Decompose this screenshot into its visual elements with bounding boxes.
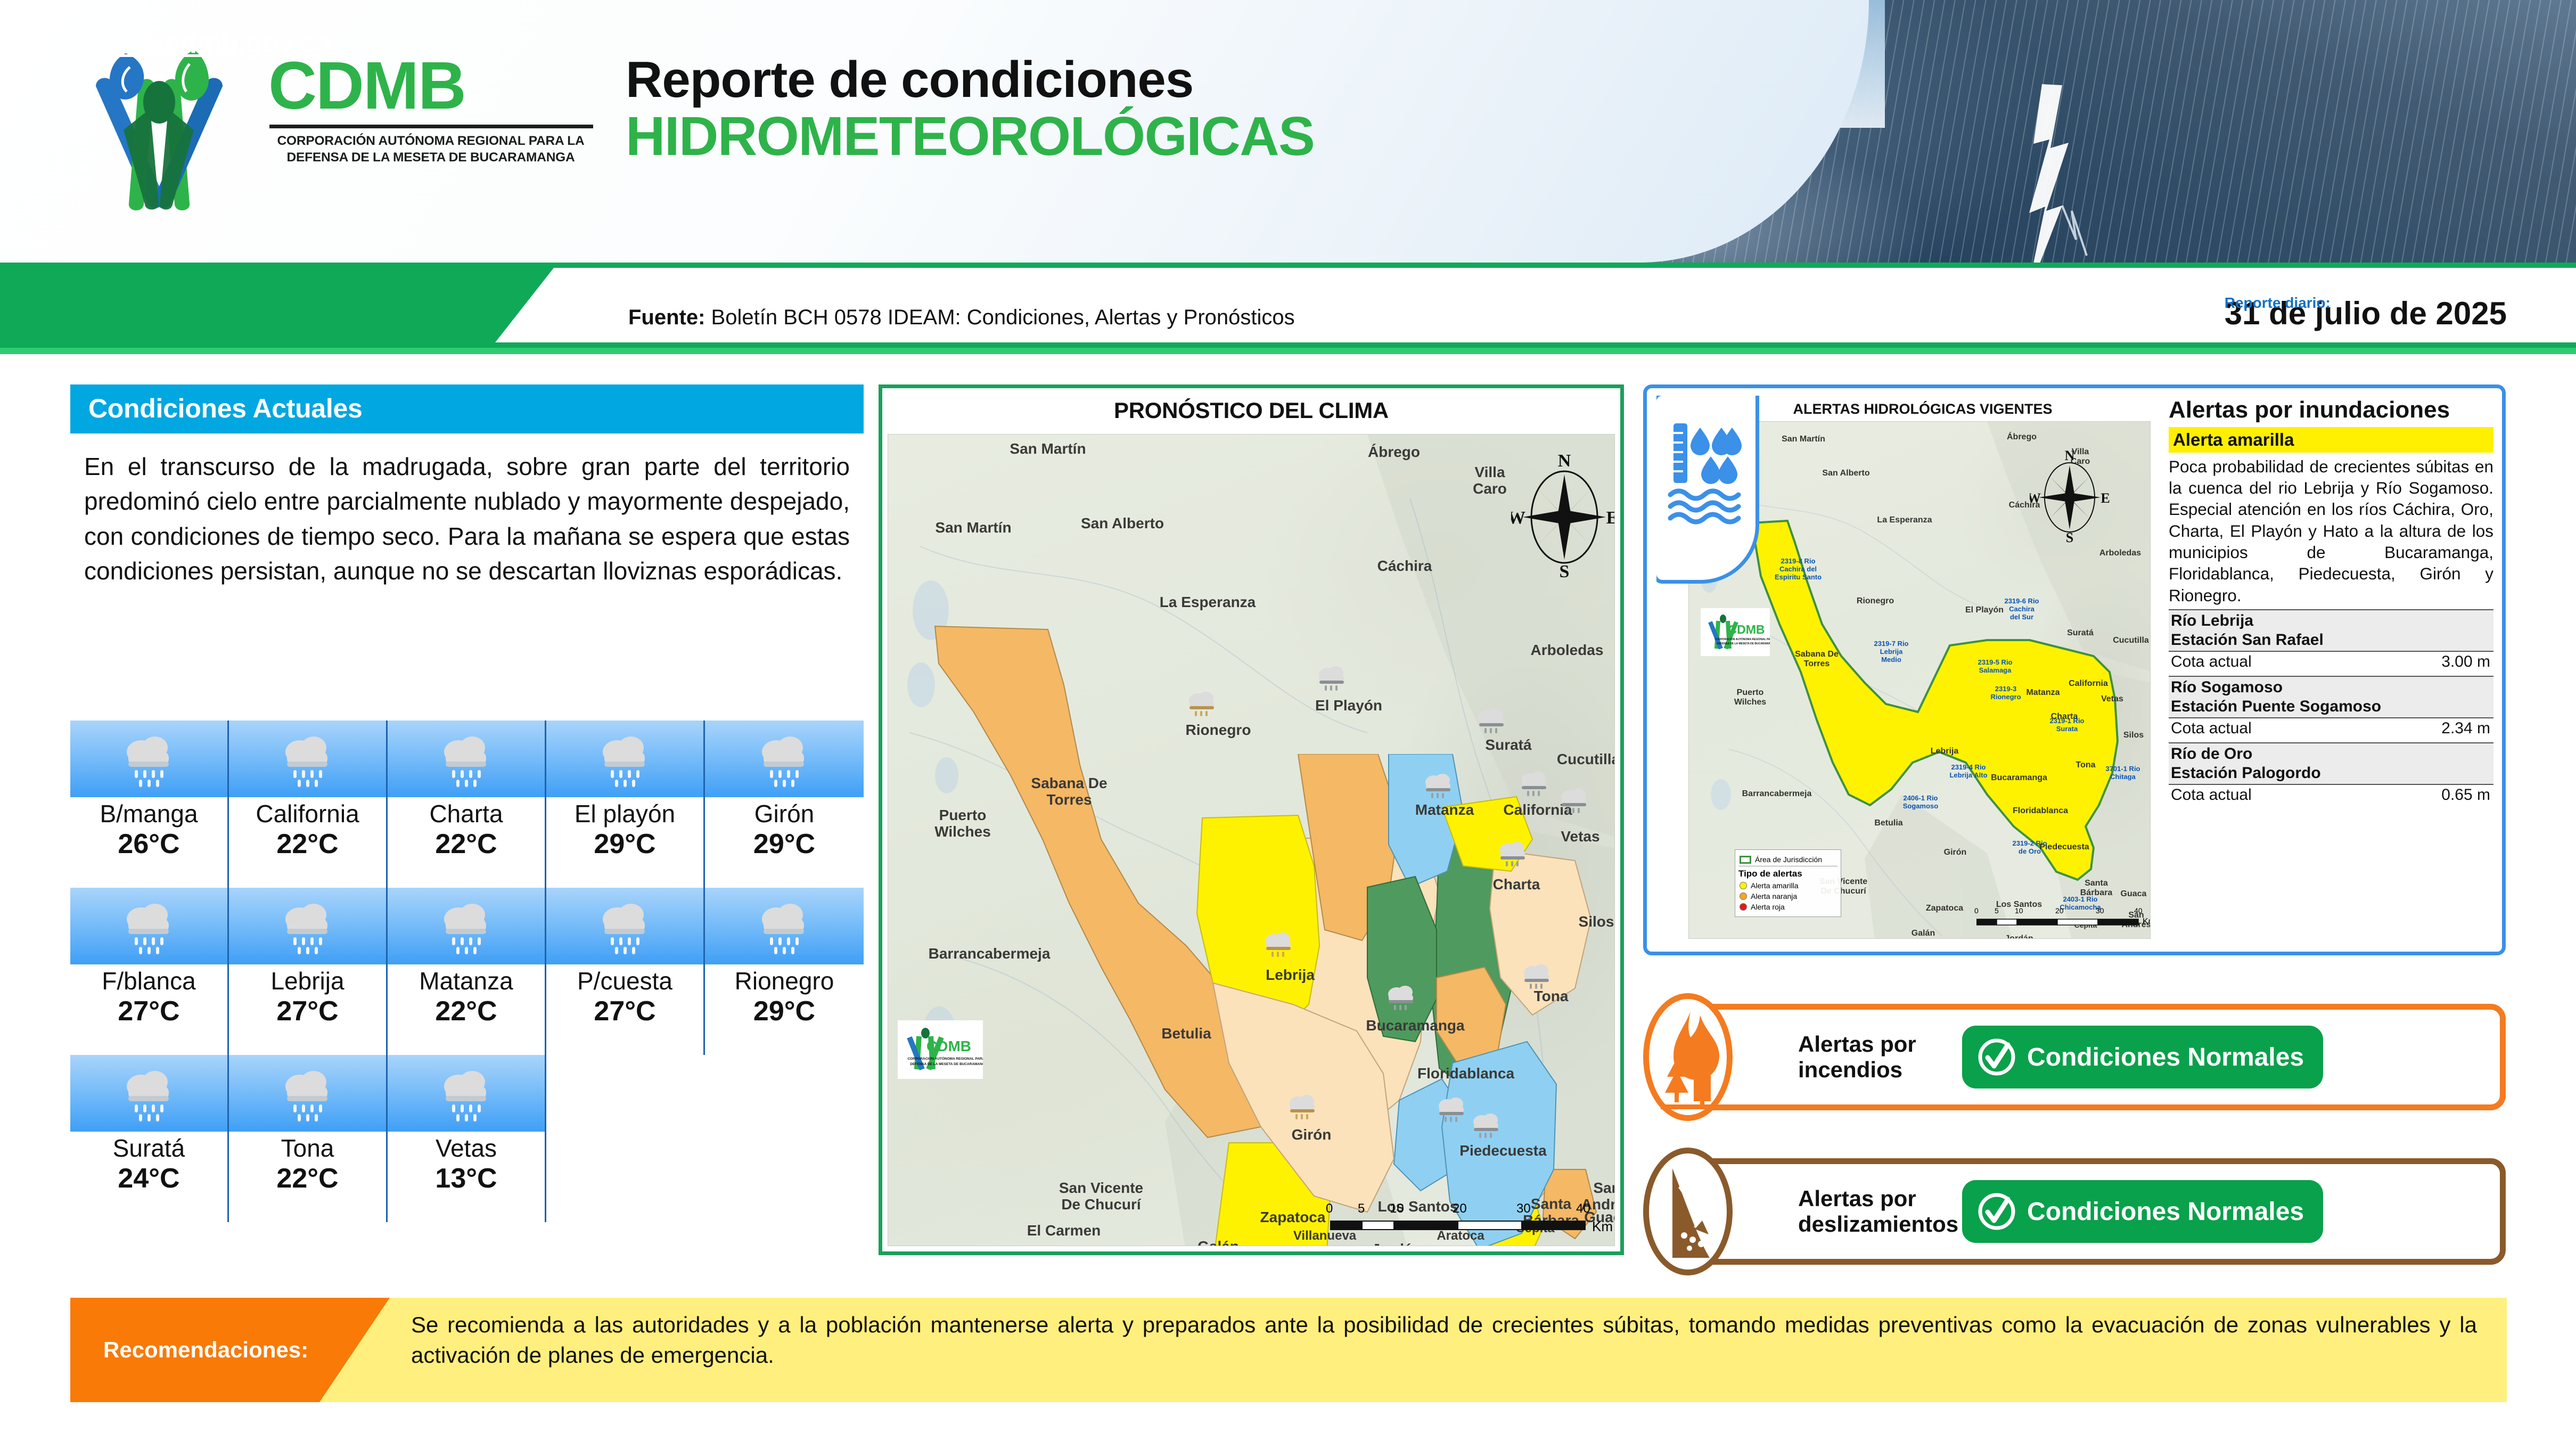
landslide-alert-body: Alertas por deslizamientos Condiciones N… <box>1688 1158 2506 1265</box>
hydro-map[interactable]: ALERTAS HIDROLÓGICAS VIGENTES <box>1656 396 2152 942</box>
legend-type-title: Tipo de alertas <box>1738 866 1837 879</box>
rain-cloud-icon <box>276 1064 339 1123</box>
flood-alert-badge: Alerta amarilla <box>2169 427 2493 453</box>
hydro-label-silos: Silos <box>2112 731 2151 740</box>
forecast-temp: 26°C <box>70 828 227 861</box>
cota-value: 2.34 m <box>2441 719 2490 738</box>
legend-jurisdiction: Área de Jurisdicción <box>1740 855 1836 864</box>
climate-forecast-map[interactable]: PRONÓSTICO DEL CLIMA <box>879 384 1624 1255</box>
hydrological-alerts-panel: ALERTAS HIDROLÓGICAS VIGENTES <box>1643 384 2506 955</box>
forecast-temp: 27°C <box>229 995 386 1028</box>
fire-alert-panel[interactable]: Alertas por incendios Condiciones Normal… <box>1643 993 2506 1121</box>
svg-text:W: W <box>1511 508 1525 528</box>
fire-alert-label: Alertas por incendios <box>1798 1032 1952 1083</box>
svg-text:E: E <box>2101 490 2110 506</box>
forecast-city: Girón <box>705 800 864 828</box>
yellow-alert-swatch <box>1740 882 1747 889</box>
cdmb-logo-hydro-map: CDMB CORPORACIÓN AUTÓNOMA REGIONAL PARA … <box>1701 608 1770 656</box>
hydro-scale-tick-40: 40 <box>2134 906 2143 915</box>
rain-cloud-icon <box>118 1064 181 1123</box>
basin-code-salamaga: 2319-5 Rio Salamaga <box>1966 659 2024 675</box>
basin-code-lebrija-medio: 2319-7 Rio Lebrija Medio <box>1865 640 1918 664</box>
climate-map-scalebar: 0 5 10 20 30 40 Km <box>1330 1201 1596 1244</box>
fire-alert-body: Alertas por incendios Condiciones Normal… <box>1688 1004 2506 1110</box>
forecast-temp: 22°C <box>388 995 545 1028</box>
river-station-head: Río Lebrija Estación San Rafael <box>2169 609 2493 651</box>
jurisdiction-label: Área de Jurisdicción <box>1755 855 1822 864</box>
hydro-label-lebrija: Lebrija <box>1913 747 1976 756</box>
forecast-city: F/blanca <box>70 968 227 995</box>
recommendations-bar: Recomendaciones: Se recomienda a las aut… <box>70 1298 2507 1402</box>
check-circle-icon <box>1976 1191 2017 1232</box>
rain-cloud-icon <box>594 730 657 788</box>
forecast-card[interactable]: Charta22°C <box>388 721 546 888</box>
forecast-card[interactable]: California22°C <box>229 721 388 888</box>
hydro-label-galan: Galán <box>1899 929 1947 938</box>
hydro-label-sabana-de-torres: Sabana De Torres <box>1782 650 1851 669</box>
svg-text:W: W <box>2030 490 2041 506</box>
orange-alert-label: Alerta naranja <box>1751 892 1797 900</box>
map-rain-icon-floridablanca <box>1434 1095 1469 1125</box>
water-gauge-icon <box>1662 418 1752 525</box>
scale-tick-10: 10 <box>1390 1201 1404 1216</box>
basin-code-rionegro: 2319-3 Rionegro <box>1979 685 2032 701</box>
landslide-alert-panel[interactable]: Alertas por deslizamientos Condiciones N… <box>1643 1148 2506 1275</box>
hydro-label-la-esperanza: La Esperanza <box>1857 515 1952 525</box>
recommendations-text: Se recomienda a las autoridades y a la p… <box>411 1309 2477 1370</box>
scale-tick-40: 40 <box>1576 1201 1590 1216</box>
red-alert-swatch <box>1740 903 1747 911</box>
title-line-2: HIDROMETEOROLÓGICAS <box>626 107 1797 165</box>
forecast-city: P/cuesta <box>546 968 703 995</box>
forecast-card[interactable]: B/manga26°C <box>70 721 229 888</box>
source-line: Fuente: Boletín BCH 0578 IDEAM: Condicio… <box>628 306 1295 330</box>
source-label: Fuente: <box>628 306 705 329</box>
hydro-scale-tick-20: 20 <box>2055 906 2064 915</box>
legend-item-red: Alerta roja <box>1740 903 1836 911</box>
legend-item-yellow: Alerta amarilla <box>1740 881 1836 890</box>
water-level-badge <box>1656 396 1759 584</box>
forecast-temp: 22°C <box>229 828 386 861</box>
climate-map-title: PRONÓSTICO DEL CLIMA <box>882 388 1620 430</box>
map-rain-icon-el-playon <box>1314 664 1349 693</box>
landslide-alert-label: Alertas por deslizamientos <box>1798 1186 1952 1237</box>
river-name: Río Lebrija <box>2171 611 2491 631</box>
forecast-city: Tona <box>229 1135 386 1163</box>
svg-text:N: N <box>1558 451 1571 471</box>
map-rain-icon-vetas <box>1556 786 1591 816</box>
hydro-label-san-alberto: San Alberto <box>1801 469 1891 478</box>
forecast-city: Rionegro <box>705 968 864 995</box>
hydro-map-legend: Área de Jurisdicción Tipo de alertas Ale… <box>1735 849 1841 917</box>
forecast-card[interactable]: Girón29°C <box>705 721 864 888</box>
svg-text:CORPORACIÓN AUTÓNOMA REGIONAL: CORPORACIÓN AUTÓNOMA REGIONAL PARA LA <box>1714 637 1770 641</box>
hydro-label-abrego: Ábrego <box>1987 432 2056 442</box>
forecast-card[interactable]: El playón29°C <box>546 721 705 888</box>
source-text: Boletín BCH 0578 IDEAM: Condiciones, Ale… <box>705 306 1294 329</box>
basin-code-sogamoso: 2406-1 Rio Sogamoso <box>1891 795 1950 811</box>
hydro-scale-tick-5: 5 <box>1995 906 1999 915</box>
hydro-label-floridablanca: Floridablanca <box>1998 806 2083 816</box>
forecast-card[interactable]: Rionegro29°C <box>705 888 864 1055</box>
map-rain-icon-piedecuesta <box>1469 1111 1504 1141</box>
river-cota-row: Cota actual 0.65 m <box>2169 784 2493 806</box>
forecast-temp: 22°C <box>229 1163 386 1195</box>
river-station-row: Río Sogamoso Estación Puente Sogamoso Co… <box>2169 676 2493 739</box>
report-date-line: Reporte diario: 31 de julio de 2025 <box>2225 295 2507 332</box>
current-conditions-heading: Condiciones Actuales <box>70 384 864 433</box>
forecast-card[interactable]: Tona22°C <box>229 1055 388 1222</box>
hydro-scale-unit: Km <box>2143 917 2151 927</box>
forecast-row-2: F/blanca27°C Lebrija27°C Matanza22°C P/c… <box>70 888 864 1055</box>
cota-value: 3.00 m <box>2441 653 2490 671</box>
basin-code-cachira-del-sur: 2319-6 Rio Cachira del Sur <box>1992 597 2051 621</box>
rain-cloud-icon <box>118 897 181 955</box>
basin-code-cachira-espiritu-santo: 2319-8 Rio Cachira del Espiritu Santo <box>1769 558 1827 582</box>
forecast-row-3: Suratá24°C Tona22°C Vetas13°C <box>70 1055 864 1222</box>
scale-tick-20: 20 <box>1453 1201 1467 1216</box>
forecast-row-1: B/manga26°C California22°C Charta22°C El… <box>70 721 864 888</box>
forecast-empty-cell <box>546 1055 705 1222</box>
forecast-temp: 13°C <box>388 1163 545 1195</box>
svg-text:DEFENSA DE LA MESETA DE BUCARA: DEFENSA DE LA MESETA DE BUCARAMANGA <box>1717 642 1770 645</box>
info-bar <box>0 263 2576 348</box>
legend-item-orange: Alerta naranja <box>1740 892 1836 900</box>
hydro-label-barrancabermeja: Barrancabermeja <box>1729 789 1825 799</box>
hydro-scale-tick-30: 30 <box>2096 906 2104 915</box>
hydro-label-zapatoca: Zapatoca <box>1913 904 1976 913</box>
map-rain-icon-giron <box>1285 1092 1320 1122</box>
logo-subtitle-line1: CORPORACIÓN AUTÓNOMA REGIONAL PARA LA <box>268 133 593 149</box>
river-station-row: Río de Oro Estación Palogordo Cota actua… <box>2169 742 2493 806</box>
compass-rose-icon: N S W E <box>1511 451 1615 578</box>
flood-alerts-block: Alertas por inundaciones Alerta amarilla… <box>2162 396 2500 944</box>
flood-alerts-text: Poca probabilidad de crecientes súbitas … <box>2169 456 2493 606</box>
river-name: Río de Oro <box>2171 744 2491 764</box>
hydro-label-san-martin: San Martín <box>1763 435 1843 444</box>
rain-cloud-icon <box>435 897 498 955</box>
cota-label: Cota actual <box>2171 653 2252 671</box>
page-title: Reporte de condiciones HIDROMETEOROLÓGIC… <box>626 53 1797 165</box>
river-station-head: Río de Oro Estación Palogordo <box>2169 742 2493 784</box>
hydro-label-vetas: Vetas <box>2088 694 2136 704</box>
basin-code-chitaga: 3701-1 Rio Chitaga <box>2096 765 2150 781</box>
check-circle-icon <box>1976 1036 2017 1078</box>
hydro-label-california: California <box>2056 679 2120 689</box>
forecast-temp: 29°C <box>705 995 864 1028</box>
hydro-scale-tick-0: 0 <box>1974 906 1979 915</box>
scale-unit: Km <box>1592 1218 1613 1235</box>
hydro-map-scalebar: 0 5 10 20 30 40 Km <box>1976 906 2151 938</box>
scale-tick-30: 30 <box>1516 1201 1531 1216</box>
report-date-value: 31 de julio de 2025 <box>2225 296 2507 331</box>
logo-divider <box>269 125 593 128</box>
page-header: CDMB CORPORACIÓN AUTÓNOMA REGIONAL PARA … <box>0 0 2576 263</box>
forest-fire-icon <box>1653 1008 1724 1114</box>
current-conditions-panel: Condiciones Actuales En el transcurso de… <box>70 384 864 588</box>
forecast-city: Suratá <box>70 1135 227 1163</box>
forecast-card[interactable]: Lebrija27°C <box>229 888 388 1055</box>
map-rain-icon-surata <box>1474 706 1509 736</box>
logo-acronym: CDMB <box>268 52 609 119</box>
forecast-temp: 29°C <box>705 828 864 861</box>
rain-cloud-icon <box>753 897 816 955</box>
rain-cloud-icon <box>594 897 657 955</box>
rain-cloud-icon <box>276 897 339 955</box>
svg-text:CORPORACIÓN AUTÓNOMA REGIONAL: CORPORACIÓN AUTÓNOMA REGIONAL PARA LA <box>907 1056 983 1061</box>
forecast-city: Matanza <box>388 968 545 995</box>
hydro-label-giron: Girón <box>1929 848 1982 857</box>
forecast-city: Vetas <box>388 1135 545 1163</box>
rain-cloud-icon <box>435 1064 498 1123</box>
forecast-card-grid: B/manga26°C California22°C Charta22°C El… <box>70 721 864 1222</box>
forecast-empty-cell <box>705 1055 864 1222</box>
forecast-city: B/manga <box>70 800 227 828</box>
river-station-row: Río Lebrija Estación San Rafael Cota act… <box>2169 609 2493 673</box>
fire-alert-status-text: Condiciones Normales <box>2027 1043 2304 1072</box>
rain-cloud-icon <box>118 730 181 788</box>
hydro-compass-rose-icon: N S W E <box>2030 447 2110 543</box>
rain-cloud-icon <box>753 730 816 788</box>
svg-text:S: S <box>2066 530 2073 543</box>
cota-label: Cota actual <box>2171 719 2252 738</box>
info-bar-underline <box>0 348 2576 354</box>
map-rain-icon-lebrija <box>1261 930 1296 960</box>
climate-map-canvas[interactable]: N S W E CDMB CORPORACIÓN AUTÓNOMA REGION… <box>888 434 1615 1246</box>
forecast-card[interactable]: Suratá24°C <box>70 1055 229 1222</box>
forecast-temp: 24°C <box>70 1163 227 1195</box>
flood-alerts-title: Alertas por inundaciones <box>2169 398 2493 423</box>
map-rain-icon-matanza <box>1421 771 1456 801</box>
title-line-1: Reporte de condiciones <box>626 53 1797 107</box>
station-name: Estación Palogordo <box>2171 764 2491 783</box>
forecast-city: Lebrija <box>229 968 386 995</box>
station-name: Estación Puente Sogamoso <box>2171 697 2491 716</box>
current-conditions-text: En el transcurso de la madrugada, sobre … <box>70 433 864 588</box>
scale-tick-0: 0 <box>1326 1201 1333 1216</box>
cdmb-logo-mark <box>70 45 262 220</box>
river-cota-row: Cota actual 2.34 m <box>2169 717 2493 739</box>
svg-text:CDMB: CDMB <box>926 1038 971 1054</box>
station-name: Estación San Rafael <box>2171 631 2491 650</box>
scalebar-graphic <box>1330 1219 1586 1231</box>
river-name: Río Sogamoso <box>2171 678 2491 697</box>
landslide-icon <box>1654 1161 1725 1267</box>
fire-alert-status: Condiciones Normales <box>1962 1026 2323 1088</box>
hydro-scalebar-graphic <box>1976 918 2140 927</box>
svg-text:S: S <box>1560 562 1570 578</box>
map-rain-icon-charta <box>1495 839 1530 869</box>
hydro-label-cucutilla: Cucutilla <box>2102 636 2151 645</box>
red-alert-label: Alerta roja <box>1751 903 1785 911</box>
rain-cloud-icon <box>276 730 339 788</box>
recommendations-tag-label: Recomendaciones: <box>70 1337 308 1363</box>
svg-text:E: E <box>1606 508 1615 528</box>
forecast-temp: 22°C <box>388 828 545 861</box>
forecast-temp: 29°C <box>546 828 703 861</box>
forecast-city: Charta <box>388 800 545 828</box>
landslide-alert-status-text: Condiciones Normales <box>2027 1197 2304 1226</box>
logo-subtitle-line2: DEFENSA DE LA MESETA DE BUCARAMANGA <box>268 149 593 166</box>
yellow-alert-label: Alerta amarilla <box>1751 881 1798 890</box>
river-station-head: Río Sogamoso Estación Puente Sogamoso <box>2169 676 2493 717</box>
forecast-card[interactable]: F/blanca27°C <box>70 888 229 1055</box>
hydro-label-betulia: Betulia <box>1859 818 1918 828</box>
map-rain-icon-rionegro <box>1184 689 1219 719</box>
hydro-label-puerto-wilches: Puerto Wilches <box>1718 688 1782 707</box>
forecast-city: California <box>229 800 386 828</box>
jurisdiction-swatch <box>1740 856 1751 864</box>
cota-label: Cota actual <box>2171 786 2252 804</box>
hydro-label-guaca: Guaca <box>2112 889 2151 899</box>
lightning-icon <box>1982 80 2105 263</box>
forecast-temp: 27°C <box>70 995 227 1028</box>
scale-tick-5: 5 <box>1358 1201 1365 1216</box>
svg-text:DEFENSA DE LA MESETA DE BUCARA: DEFENSA DE LA MESETA DE BUCARAMANGA <box>910 1062 983 1066</box>
forecast-card[interactable]: Matanza22°C <box>388 888 546 1055</box>
cdmb-logo-small: CDMB CORPORACIÓN AUTÓNOMA REGIONAL PARA … <box>898 1020 983 1079</box>
orange-alert-swatch <box>1740 893 1747 900</box>
map-rain-icon-tona <box>1519 962 1554 992</box>
landslide-alert-status: Condiciones Normales <box>1962 1180 2323 1243</box>
cdmb-logo: CDMB CORPORACIÓN AUTÓNOMA REGIONAL PARA … <box>70 38 613 230</box>
landslide-alert-badge <box>1643 1148 1733 1275</box>
hydro-label-rionegro: Rionegro <box>1841 596 1910 606</box>
river-cota-row: Cota actual 3.00 m <box>2169 651 2493 673</box>
forecast-temp: 27°C <box>546 995 703 1028</box>
map-rain-icon-california <box>1516 769 1552 799</box>
basin-code-lebrija-alto: 2319-4 Rio Lebrija Alto <box>1939 764 1998 780</box>
recommendations-tag: Recomendaciones: <box>70 1298 390 1402</box>
svg-text:CDMB: CDMB <box>1728 623 1765 636</box>
website-link[interactable]: www.cdmb.gov.co <box>95 28 331 60</box>
hydro-map-title: ALERTAS HIDROLÓGICAS VIGENTES <box>1694 401 2152 417</box>
basin-code-rio-de-oro: 2319-2 Rio de Oro <box>2000 840 2059 856</box>
forecast-card[interactable]: Vetas13°C <box>388 1055 546 1222</box>
fire-alert-badge <box>1643 993 1733 1121</box>
forecast-card[interactable]: P/cuesta27°C <box>546 888 705 1055</box>
municipality-polygons-south[interactable] <box>888 754 1615 1246</box>
forecast-city: El playón <box>546 800 703 828</box>
basin-code-surata: 2319-1 Rio Surata <box>2040 717 2094 733</box>
map-rain-icon-bucaramanga <box>1383 983 1418 1013</box>
svg-text:N: N <box>2065 448 2075 463</box>
rain-cloud-icon <box>435 730 498 788</box>
cota-value: 0.65 m <box>2441 786 2490 804</box>
hydro-label-surata: Suratá <box>2051 628 2110 638</box>
hydro-label-arboledas: Arboledas <box>2083 549 2151 558</box>
hydro-scale-tick-10: 10 <box>2015 906 2023 915</box>
